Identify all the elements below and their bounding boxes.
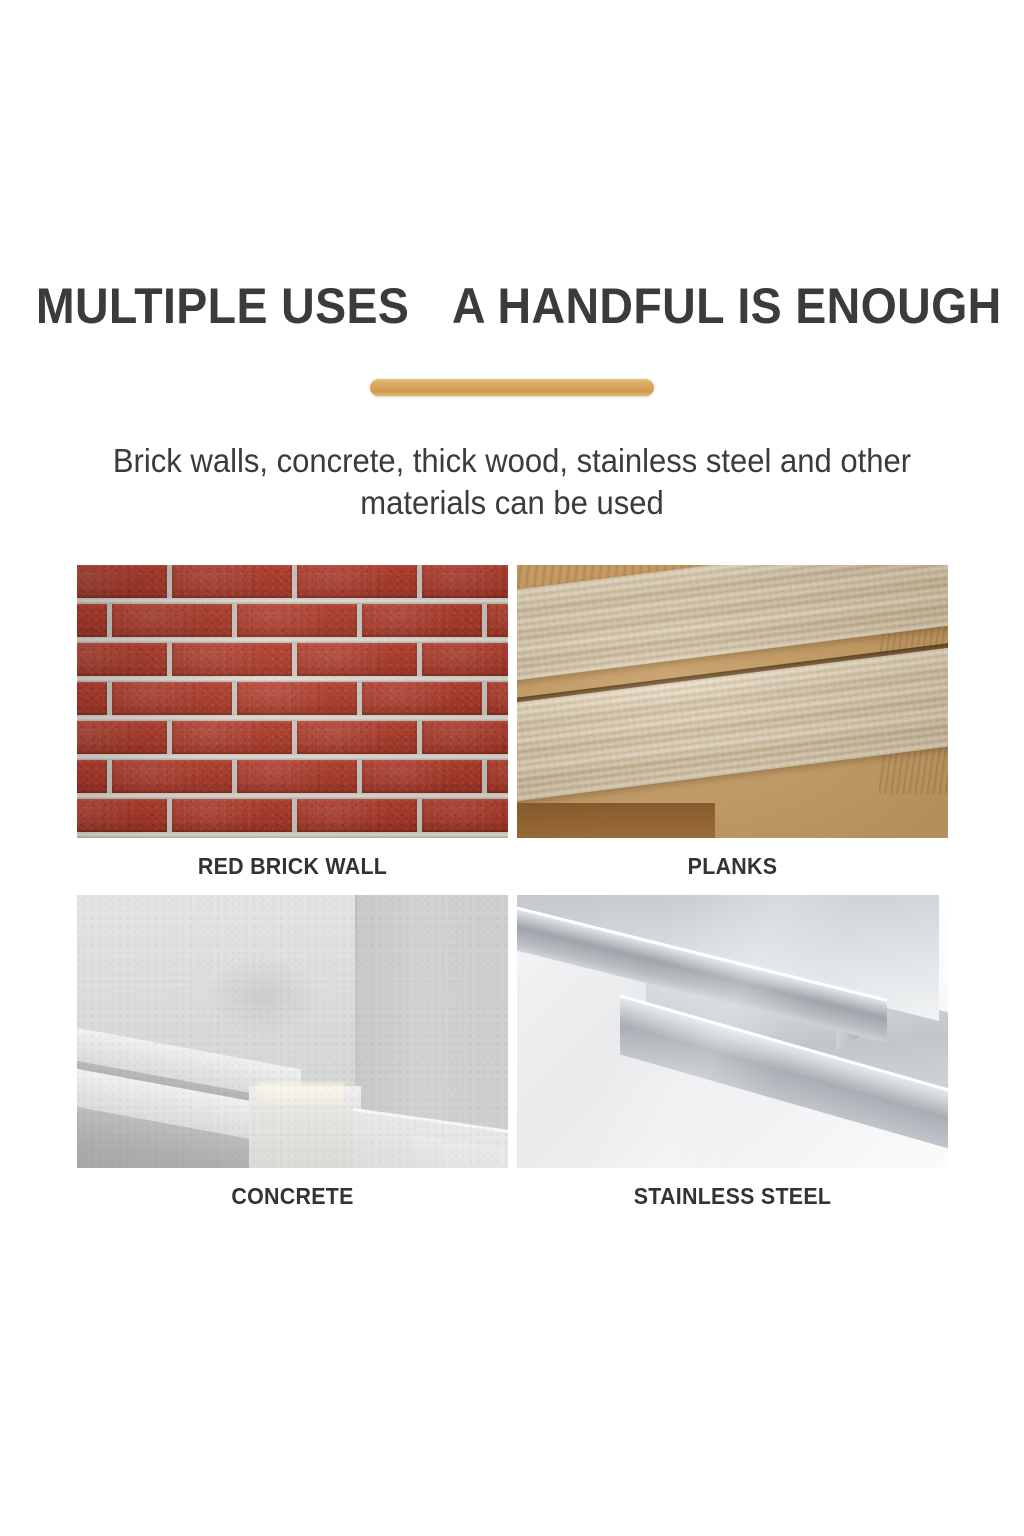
material-row-top: RED BRICK WALL PLANKS bbox=[77, 565, 948, 895]
page-subtitle: Brick walls, concrete, thick wood, stain… bbox=[89, 440, 935, 524]
stainless-steel-image bbox=[517, 895, 948, 1168]
material-row-bottom: CONCRETE STAINLESS STEEL bbox=[77, 895, 948, 1225]
brick-pattern bbox=[77, 565, 508, 838]
material-cell-red-brick-wall[interactable]: RED BRICK WALL bbox=[77, 565, 508, 895]
material-cell-concrete[interactable]: CONCRETE bbox=[77, 895, 508, 1225]
gold-divider-bar bbox=[370, 379, 654, 396]
promo-page: MULTIPLE USESA HANDFUL IS ENOUGH Brick w… bbox=[0, 0, 1024, 1536]
page-title: MULTIPLE USESA HANDFUL IS ENOUGH bbox=[36, 277, 988, 335]
concrete-texture bbox=[77, 895, 508, 1168]
page-title-part-1: MULTIPLE USES bbox=[36, 278, 409, 334]
caption-red-brick-wall: RED BRICK WALL bbox=[92, 838, 493, 895]
plank-shading bbox=[517, 565, 948, 838]
material-cell-stainless-steel[interactable]: STAINLESS STEEL bbox=[517, 895, 948, 1225]
caption-stainless-steel: STAINLESS STEEL bbox=[532, 1168, 933, 1225]
caption-planks: PLANKS bbox=[532, 838, 933, 895]
page-title-part-2: A HANDFUL IS ENOUGH bbox=[452, 278, 1002, 334]
red-brick-wall-image bbox=[77, 565, 508, 838]
planks-image bbox=[517, 565, 948, 838]
concrete-image bbox=[77, 895, 508, 1168]
caption-concrete: CONCRETE bbox=[92, 1168, 493, 1225]
material-grid: RED BRICK WALL PLANKS bbox=[77, 565, 948, 1225]
divider bbox=[0, 379, 1024, 396]
material-cell-planks[interactable]: PLANKS bbox=[517, 565, 948, 895]
